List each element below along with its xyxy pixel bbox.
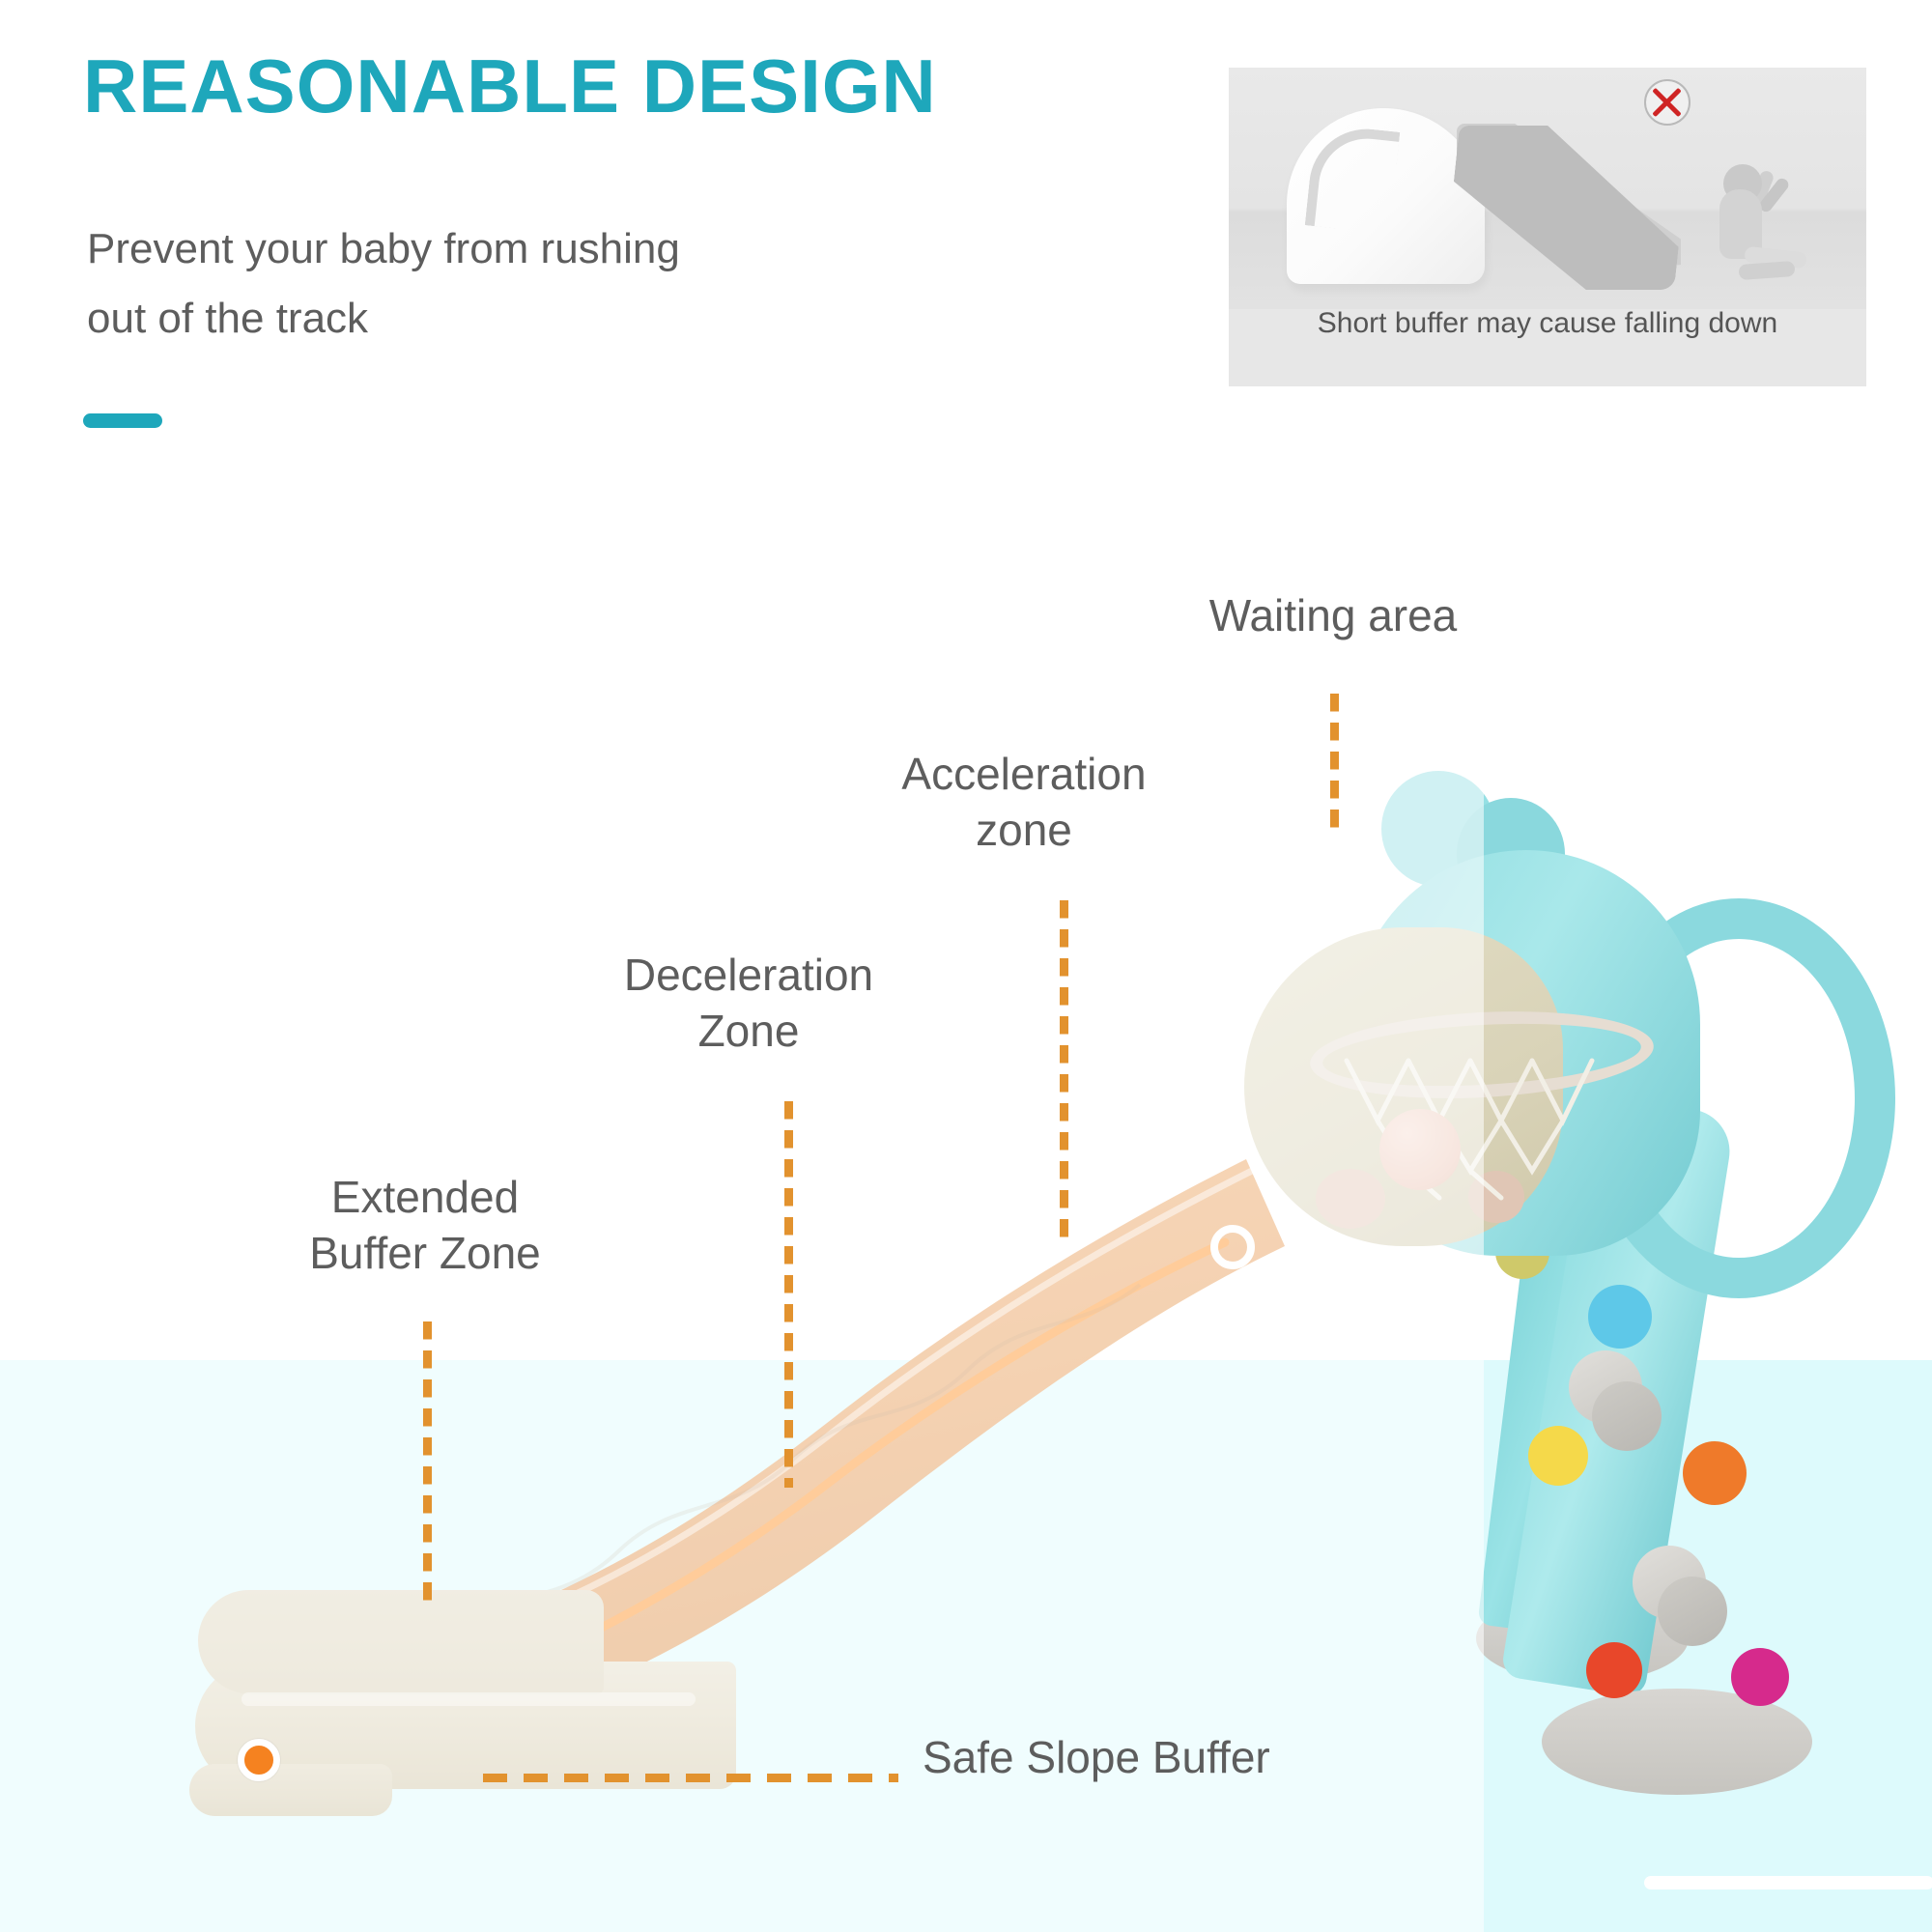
leader-line-extended-buffer-zone <box>423 1321 432 1611</box>
deco-dot-yellow <box>1528 1426 1588 1486</box>
callout-label-acceleration-zone: Acceleration zone <box>831 746 1217 858</box>
callout-label-safe-slope-buffer: Safe Slope Buffer <box>923 1729 1406 1785</box>
toy-basketball <box>1379 1109 1461 1190</box>
slide-end-marker <box>238 1739 280 1781</box>
page-title: REASONABLE DESIGN <box>83 44 937 128</box>
accent-divider <box>83 413 162 428</box>
bottom-accent-bar <box>1644 1876 1932 1889</box>
callout-label-extended-buffer-zone: Extended Buffer Zone <box>222 1169 628 1281</box>
infographic-canvas: REASONABLE DESIGN Prevent your baby from… <box>0 0 1932 1932</box>
basketball-net <box>1339 1057 1600 1202</box>
warning-inset-card: Short buffer may cause falling down <box>1229 68 1866 386</box>
buffer-front-lip <box>189 1764 392 1816</box>
leader-line-safe-slope-buffer <box>483 1774 898 1782</box>
callout-label-waiting-area: Waiting area <box>1111 587 1555 643</box>
buffer-top-surface <box>198 1590 604 1694</box>
slide-start-marker <box>1210 1225 1255 1269</box>
x-mark-icon <box>1644 79 1690 126</box>
leader-line-waiting-area <box>1330 694 1339 829</box>
deco-dot-orange <box>1683 1441 1747 1505</box>
deco-dot-red <box>1586 1642 1642 1698</box>
callout-label-deceleration-zone: Deceleration Zone <box>560 947 937 1059</box>
inset-caption: Short buffer may cause falling down <box>1229 307 1866 340</box>
inset-fallen-child <box>1690 156 1806 280</box>
climb-peg-upper-b <box>1592 1381 1662 1451</box>
inset-photo <box>1229 68 1866 309</box>
buffer-trim-line <box>241 1692 696 1706</box>
front-foot <box>1542 1689 1812 1795</box>
deco-dot-blue <box>1588 1285 1652 1349</box>
deco-dot-magenta <box>1731 1648 1789 1706</box>
leader-line-acceleration-zone <box>1060 900 1068 1248</box>
page-subtitle: Prevent your baby from rushing out of th… <box>87 214 879 354</box>
climb-peg-lower-b <box>1658 1577 1727 1646</box>
leader-line-deceleration-zone <box>784 1101 793 1488</box>
